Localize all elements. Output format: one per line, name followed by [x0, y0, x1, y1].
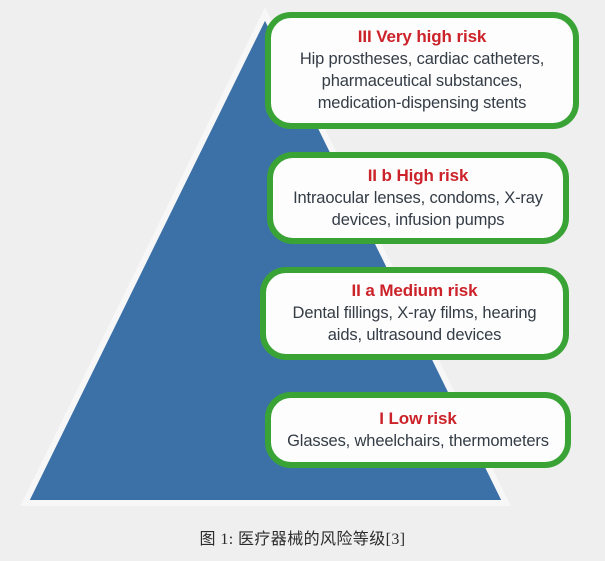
risk-level-title: I Low risk [379, 408, 456, 429]
risk-level-title: II a Medium risk [352, 280, 478, 301]
risk-level-box-class-2b: II b High risk Intraocular lenses, condo… [267, 152, 569, 244]
risk-level-box-class-3: III Very high risk Hip prostheses, cardi… [265, 12, 579, 129]
risk-level-box-class-2a: II a Medium risk Dental fillings, X-ray … [260, 267, 569, 360]
risk-level-box-class-1: I Low risk Glasses, wheelchairs, thermom… [265, 392, 571, 468]
risk-level-description: Dental fillings, X-ray films, hearing ai… [280, 302, 549, 346]
risk-level-description: Hip prostheses, cardiac catheters, pharm… [285, 48, 559, 114]
risk-level-description: Glasses, wheelchairs, thermometers [287, 430, 549, 452]
figure-caption: 图 1: 医疗器械的风险等级[3] [0, 512, 605, 561]
risk-level-title: II b High risk [368, 165, 469, 186]
risk-pyramid-figure: III Very high risk Hip prostheses, cardi… [0, 0, 605, 561]
risk-level-title: III Very high risk [358, 26, 487, 47]
pyramid-diagram: III Very high risk Hip prostheses, cardi… [0, 0, 605, 512]
risk-level-description: Intraocular lenses, condoms, X-ray devic… [287, 187, 549, 231]
figure-caption-text: 图 1: 医疗器械的风险等级[3] [200, 525, 406, 549]
